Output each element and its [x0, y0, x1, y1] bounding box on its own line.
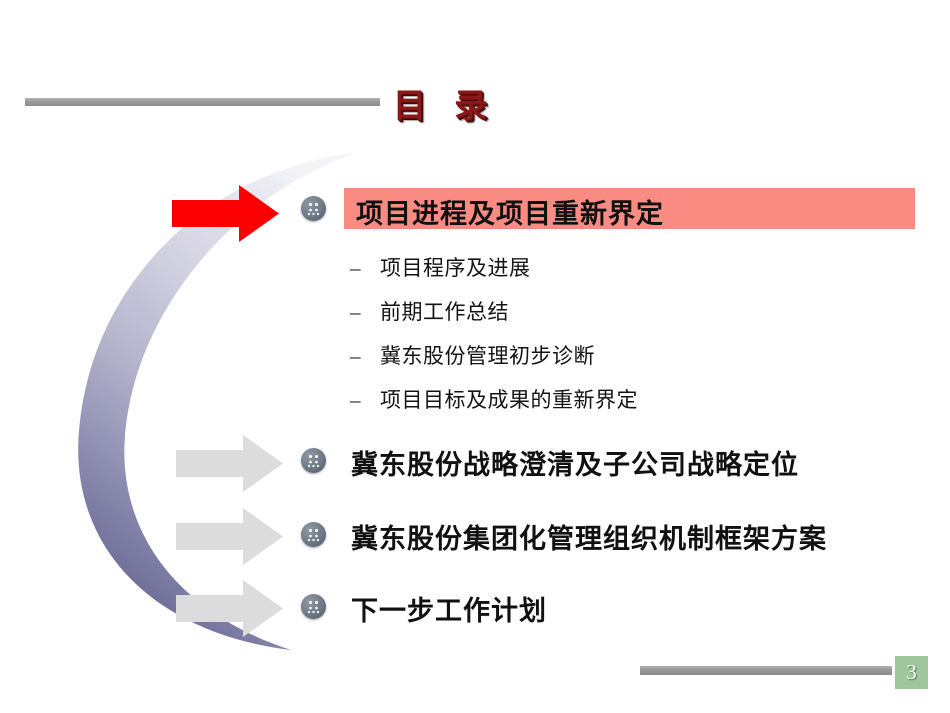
grid-dots-bullet-icon — [301, 196, 326, 221]
page-number-chip: 3 — [895, 656, 928, 689]
page-number: 3 — [906, 662, 917, 683]
agenda-subitem-2-label: 前期工作总结 — [380, 296, 509, 326]
agenda-subitem-3-label: 冀东股份管理初步诊断 — [380, 340, 595, 370]
right-arrow-red-active[interactable] — [172, 185, 279, 242]
grid-dots-bullet-icon — [301, 448, 326, 473]
right-arrow-gray-item-4[interactable] — [176, 580, 283, 637]
agenda-subitem-3[interactable]: – 冀东股份管理初步诊断 — [350, 340, 595, 370]
right-arrow-gray-item-3[interactable] — [176, 508, 283, 565]
subitem-dash-marker: – — [350, 256, 380, 281]
agenda-subitem-2[interactable]: – 前期工作总结 — [350, 296, 509, 326]
agenda-item-4-label[interactable]: 下一步工作计划 — [351, 589, 547, 628]
agenda-subitem-1[interactable]: – 项目程序及进展 — [350, 252, 531, 282]
right-arrow-gray-item-2[interactable] — [176, 435, 283, 492]
subitem-dash-marker: – — [350, 388, 380, 413]
footer-rule — [640, 666, 892, 675]
subitem-dash-marker: – — [350, 300, 380, 325]
agenda-subitem-1-label: 项目程序及进展 — [380, 252, 531, 282]
agenda-item-1-label[interactable]: 项目进程及项目重新界定 — [356, 192, 664, 231]
agenda-subitem-4-label: 项目目标及成果的重新界定 — [380, 384, 638, 414]
header-rule — [25, 98, 380, 106]
agenda-subitem-4[interactable]: – 项目目标及成果的重新界定 — [350, 384, 638, 414]
slide-canvas: 目 录 — [0, 0, 950, 713]
grid-dots-bullet-icon — [301, 522, 326, 547]
subitem-dash-marker: – — [350, 344, 380, 369]
agenda-item-2-label[interactable]: 冀东股份战略澄清及子公司战略定位 — [351, 443, 799, 482]
agenda-item-3-label[interactable]: 冀东股份集团化管理组织机制框架方案 — [351, 517, 827, 556]
page-title: 目 录 — [393, 79, 497, 127]
grid-dots-bullet-icon — [301, 594, 326, 619]
